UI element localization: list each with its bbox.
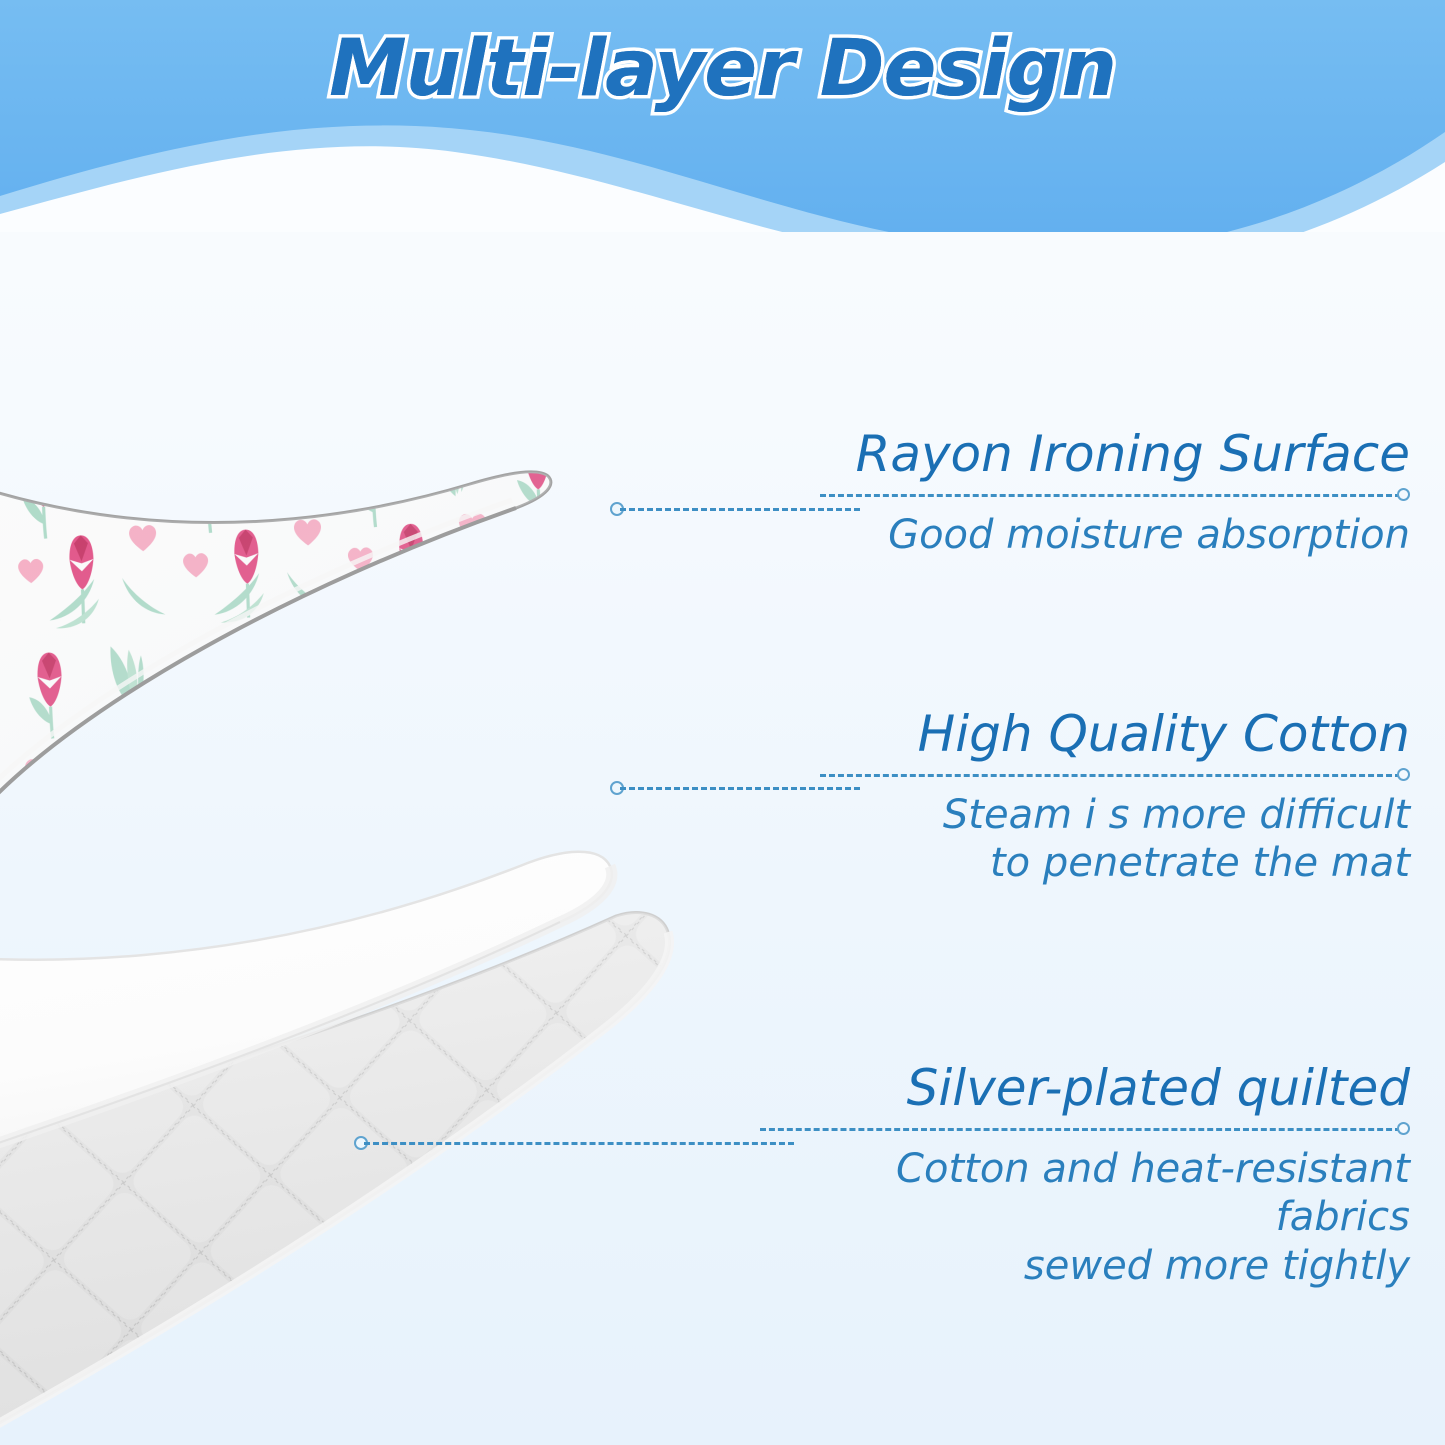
callout-rayon-title: Rayon Ironing Surface <box>820 428 1410 481</box>
infographic-canvas: Multi-layer Design Multi-layer Design <box>0 0 1445 1445</box>
callout-quilted-dash <box>760 1128 1401 1131</box>
callout-cotton-subtitle: Steam i s more difficult to penetrate th… <box>820 791 1410 889</box>
page-title: Multi-layer Design <box>0 24 1445 114</box>
callout-cotton: High Quality Cotton Steam i s more diffi… <box>820 708 1410 888</box>
callout-rayon-dot <box>1397 488 1410 501</box>
connector-line-quilted <box>354 1136 794 1150</box>
callout-quilted-subtitle-line-1: Cotton and heat-resistant fabrics <box>760 1145 1410 1243</box>
callout-quilted-subtitle-line-2: sewed more tightly <box>760 1242 1410 1291</box>
callout-cotton-subtitle-line-2: to penetrate the mat <box>820 839 1410 888</box>
callout-cotton-title: High Quality Cotton <box>820 708 1410 761</box>
header-banner: Multi-layer Design Multi-layer Design <box>0 0 1445 232</box>
callout-cotton-dot <box>1397 768 1410 781</box>
callout-quilted-title: Silver-plated quilted <box>760 1062 1410 1115</box>
callout-cotton-subtitle-line-1: Steam i s more difficult <box>820 791 1410 840</box>
callout-rayon: Rayon Ironing Surface Good moisture abso… <box>820 428 1410 559</box>
callout-quilted-dot <box>1397 1122 1410 1135</box>
callout-rayon-subtitle: Good moisture absorption <box>820 511 1410 560</box>
callout-quilted: Silver-plated quilted Cotton and heat-re… <box>760 1062 1410 1291</box>
callout-rayon-dash <box>820 494 1401 497</box>
callout-rayon-subtitle-line-1: Good moisture absorption <box>820 511 1410 560</box>
callout-cotton-dash <box>820 774 1401 777</box>
connector-dash-quilted <box>364 1142 794 1145</box>
layer-floral <box>0 332 551 905</box>
callout-cotton-rule <box>820 768 1410 782</box>
callout-quilted-rule <box>760 1122 1410 1136</box>
callout-rayon-rule <box>820 488 1410 502</box>
callout-quilted-subtitle: Cotton and heat-resistant fabrics sewed … <box>760 1145 1410 1291</box>
